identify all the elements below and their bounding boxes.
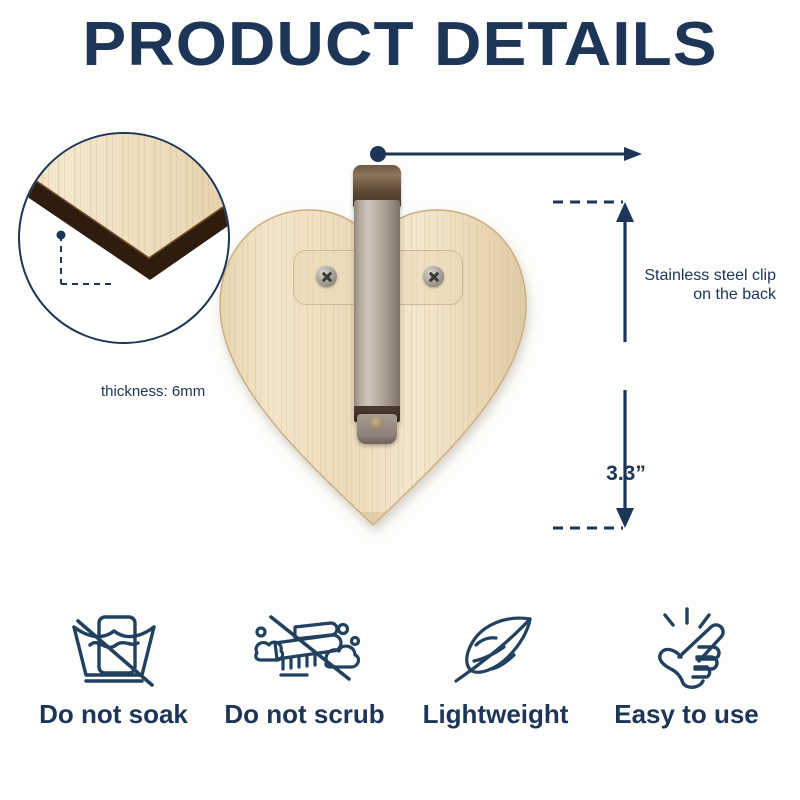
- clip-note-line1: Stainless steel clip: [598, 267, 776, 286]
- screw-right-icon: [423, 266, 444, 287]
- thickness-label: thickness: 6mm: [101, 383, 205, 400]
- feature-label: Lightweight: [423, 699, 569, 730]
- feature-strip: Do not soak: [0, 605, 800, 765]
- feature-label: Do not soak: [39, 699, 188, 730]
- no-scrub-icon: [245, 605, 365, 691]
- feature-do-not-scrub: Do not scrub: [212, 605, 398, 730]
- feature-lightweight: Lightweight: [403, 605, 589, 730]
- thickness-leader-line: [20, 134, 228, 342]
- clip-bottom-tab: [357, 414, 397, 444]
- magnifier-circle: [18, 132, 230, 344]
- dimension-label: 3.3”: [590, 462, 662, 486]
- feature-do-not-soak: Do not soak: [21, 605, 207, 730]
- clip-body: [354, 200, 400, 422]
- feature-easy-to-use: Easy to use: [594, 605, 780, 730]
- screw-left-icon: [316, 266, 337, 287]
- product-illustration: thickness: 6mm Stainless steel clip on t…: [0, 110, 800, 580]
- page-title: PRODUCT DETAILS: [0, 14, 800, 76]
- clip-note: Stainless steel clip on the back: [598, 267, 776, 305]
- product-details-page: PRODUCT DETAILS: [0, 0, 800, 800]
- feature-label: Do not scrub: [224, 699, 384, 730]
- clip-callout-arrow: [360, 140, 650, 170]
- feature-label: Easy to use: [614, 699, 759, 730]
- snapping-fingers-icon: [637, 605, 737, 691]
- no-soak-icon: [60, 605, 168, 691]
- height-dimension-line: [545, 190, 655, 540]
- feather-icon: [446, 605, 546, 691]
- clip-note-line2: on the back: [598, 286, 776, 305]
